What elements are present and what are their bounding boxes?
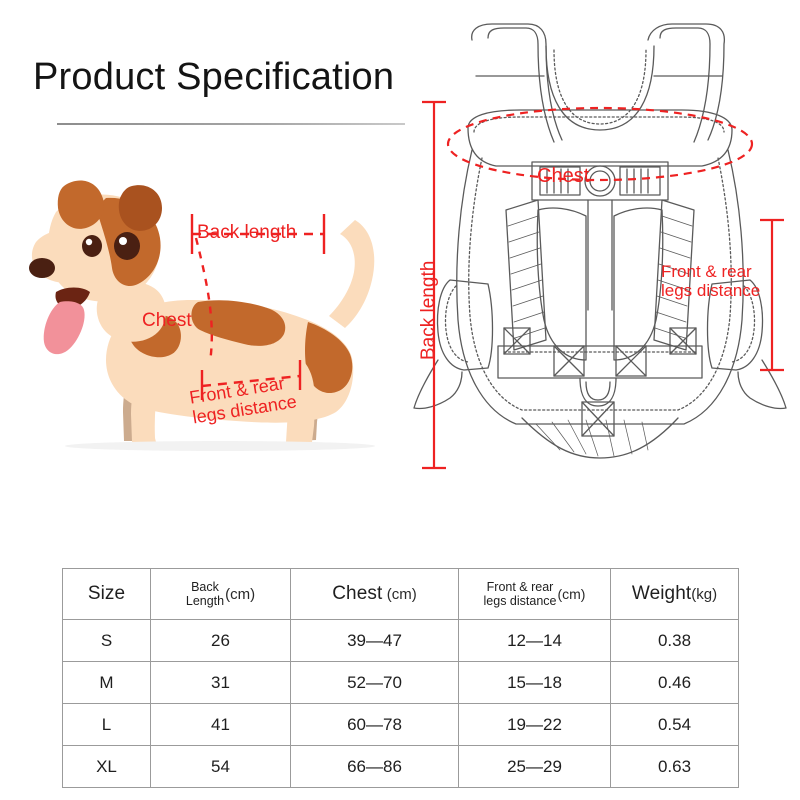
dog-nose	[29, 258, 55, 278]
table-row: L 41 60—78 19—22 0.54	[63, 704, 739, 746]
cell-size: S	[63, 620, 151, 662]
dog-tongue	[44, 301, 85, 354]
cell-weight: 0.63	[611, 746, 739, 788]
column-header-legs-distance: Front & rear legs distance (cm)	[459, 569, 611, 620]
dog-ear-right	[119, 185, 162, 231]
cell-legs-distance: 19—22	[459, 704, 611, 746]
carrier-strap-left-inner	[488, 28, 554, 142]
cell-size: XL	[63, 746, 151, 788]
column-header-size: Size	[63, 569, 151, 620]
dog-measurement-illustration	[20, 150, 410, 480]
cell-legs-distance: 15—18	[459, 662, 611, 704]
column-header-chest: Chest (cm)	[291, 569, 459, 620]
carrier-chest-ellipse	[448, 108, 752, 180]
table-header-row: Size Back Length (cm) Chest (cm) Front &…	[63, 569, 739, 620]
column-header-weight: Weight(kg)	[611, 569, 739, 620]
column-header-weight-unit: (kg)	[691, 586, 717, 603]
dog-ear-left	[58, 181, 104, 229]
dog-eye-right	[114, 232, 140, 260]
carrier-strap-right-inner	[660, 28, 710, 142]
column-header-back-length-line2: Length	[186, 594, 224, 608]
carrier-buckle-right	[620, 167, 660, 195]
title-divider	[57, 123, 405, 125]
carrier-legs-label-line1: Front & rear	[661, 262, 760, 281]
table-row: S 26 39—47 12—14 0.38	[63, 620, 739, 662]
carrier-backpack-illustration	[410, 10, 790, 490]
carrier-legs-label-line2: legs distance	[661, 281, 760, 300]
cell-chest: 52—70	[291, 662, 459, 704]
dog-eye-left	[82, 235, 102, 257]
column-header-size-label: Size	[88, 583, 125, 605]
column-header-back-length-stack: Back Length	[186, 580, 224, 609]
cell-chest: 66—86	[291, 746, 459, 788]
carrier-legs-distance-label: Front & rear legs distance	[661, 262, 760, 300]
dog-chest-label: Chest	[142, 310, 192, 331]
cell-legs-distance: 25—29	[459, 746, 611, 788]
specification-table: Size Back Length (cm) Chest (cm) Front &…	[62, 568, 739, 788]
dog-eye-left-glint	[86, 239, 92, 245]
column-header-legs-distance-unit: (cm)	[557, 586, 585, 602]
dog-eye-right-glint	[119, 237, 127, 245]
carrier-back-length-label: Back length	[418, 261, 439, 360]
column-header-legs-distance-stack: Front & rear legs distance	[484, 580, 557, 609]
table-row: XL 54 66—86 25—29 0.63	[63, 746, 739, 788]
page-title: Product Specification	[33, 58, 394, 96]
carrier-center-strap	[588, 200, 612, 310]
column-header-back-length-unit: (cm)	[225, 586, 255, 603]
cell-weight: 0.54	[611, 704, 739, 746]
cell-back-length: 26	[151, 620, 291, 662]
dog-tail	[329, 220, 374, 328]
carrier-leg-opening-left	[537, 208, 586, 360]
cell-legs-distance: 12—14	[459, 620, 611, 662]
carrier-strap-left-outer	[472, 24, 562, 140]
column-header-back-length-line1: Back	[191, 580, 219, 594]
carrier-lower-strap	[498, 346, 702, 378]
carrier-leg-opening-right	[614, 208, 663, 360]
column-header-legs-distance-line1: Front & rear	[487, 580, 554, 594]
cell-back-length: 54	[151, 746, 291, 788]
carrier-legs-distance-caliper	[760, 220, 784, 370]
column-header-weight-label: Weight	[632, 583, 691, 605]
column-header-chest-unit: (cm)	[387, 586, 417, 603]
table-row: M 31 52—70 15—18 0.46	[63, 662, 739, 704]
cell-chest: 60—78	[291, 704, 459, 746]
carrier-chest-band	[468, 110, 732, 166]
dog-back-length-label: Back length	[197, 222, 296, 243]
carrier-chest-label: Chest	[537, 165, 589, 187]
cell-weight: 0.46	[611, 662, 739, 704]
column-header-legs-distance-line2: legs distance	[484, 594, 557, 608]
carrier-neck-opening-inner	[554, 50, 646, 124]
carrier-strap-right-outer	[648, 24, 724, 140]
column-header-chest-label: Chest	[332, 583, 382, 605]
carrier-clasp-inner	[586, 382, 610, 400]
cell-size: M	[63, 662, 151, 704]
cell-weight: 0.38	[611, 620, 739, 662]
cell-back-length: 41	[151, 704, 291, 746]
cell-back-length: 31	[151, 662, 291, 704]
cell-size: L	[63, 704, 151, 746]
cell-chest: 39—47	[291, 620, 459, 662]
column-header-back-length: Back Length (cm)	[151, 569, 291, 620]
dog-ground-shadow	[65, 441, 375, 451]
